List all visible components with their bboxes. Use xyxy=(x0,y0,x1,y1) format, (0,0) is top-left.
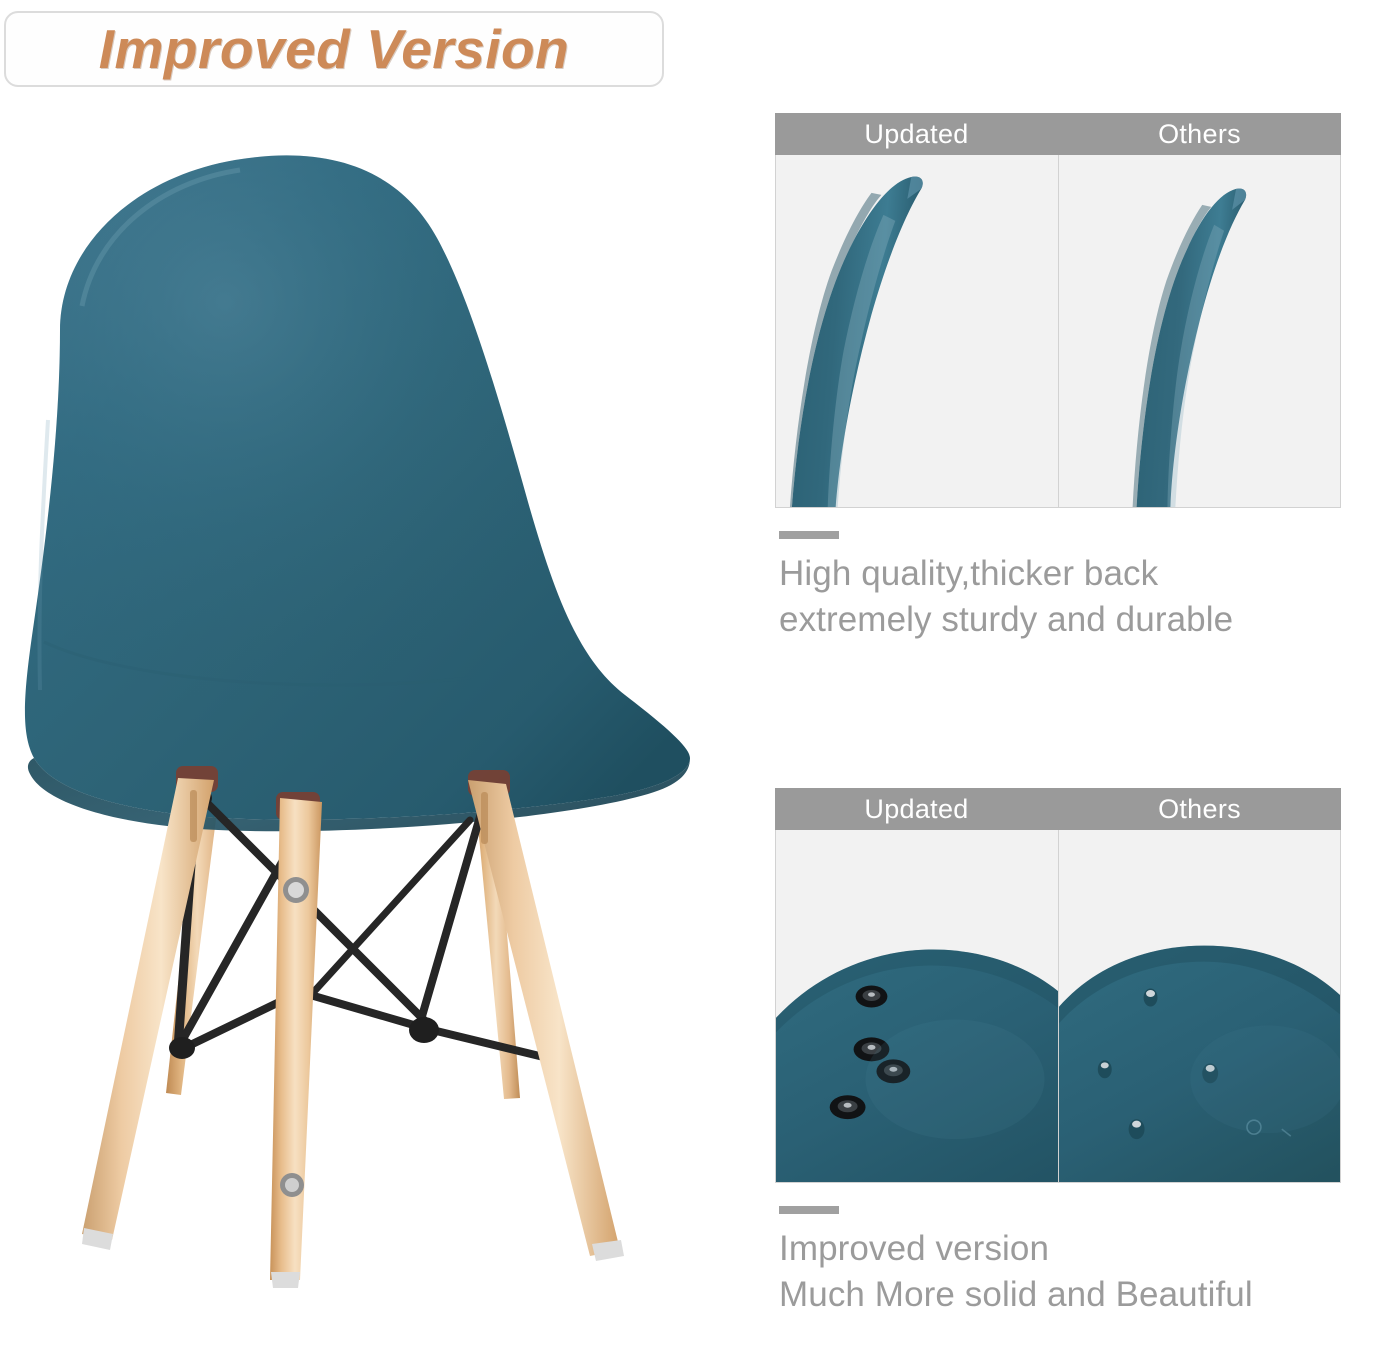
comparison-column-others: Others xyxy=(1058,788,1341,830)
improved-version-badge: Improved Version xyxy=(4,11,664,87)
comparison-column-updated: Updated xyxy=(775,788,1058,830)
leg-far-left xyxy=(82,778,214,1240)
comparison-caption-line: High quality,thicker back xyxy=(779,551,1341,597)
thick-back-profile-illustration xyxy=(776,155,1058,507)
thin-back-profile-illustration xyxy=(1059,155,1341,507)
comparison-image-updated xyxy=(776,830,1059,1182)
comparison-image-row xyxy=(775,155,1341,508)
caption-rule xyxy=(779,531,839,539)
comparison-image-row xyxy=(775,830,1341,1183)
comparison-image-others xyxy=(1059,830,1341,1182)
seat-underside-with-rubber-mounts xyxy=(776,830,1058,1182)
chair-base xyxy=(82,766,624,1288)
chair-illustration xyxy=(0,130,740,1330)
comparison-column-label: Others xyxy=(1158,796,1241,823)
comparison-caption-line: Much More solid and Beautiful xyxy=(779,1272,1341,1318)
comparison-header-row: Updated Others xyxy=(775,113,1341,155)
comparison-back-thickness: Updated Others xyxy=(775,113,1341,643)
comparison-column-updated: Updated xyxy=(775,113,1058,155)
comparison-column-label: Updated xyxy=(864,796,968,823)
comparison-image-updated xyxy=(776,155,1059,507)
product-hero-image xyxy=(0,130,740,1330)
improved-version-label: Improved Version xyxy=(99,22,570,77)
chair-shell xyxy=(25,155,690,831)
caption-rule xyxy=(779,1206,839,1214)
comparison-header-row: Updated Others xyxy=(775,788,1341,830)
comparison-column-others: Others xyxy=(1058,113,1341,155)
comparison-column-label: Others xyxy=(1158,121,1241,148)
leg-far-right xyxy=(468,780,620,1256)
seat-underside-with-bare-screws xyxy=(1059,830,1341,1182)
comparison-seat-mounts: Updated Others xyxy=(775,788,1341,1318)
comparison-caption-line: extremely sturdy and durable xyxy=(779,597,1341,643)
comparison-image-others xyxy=(1059,155,1341,507)
comparison-caption-line: Improved version xyxy=(779,1226,1341,1272)
comparison-column-label: Updated xyxy=(864,121,968,148)
